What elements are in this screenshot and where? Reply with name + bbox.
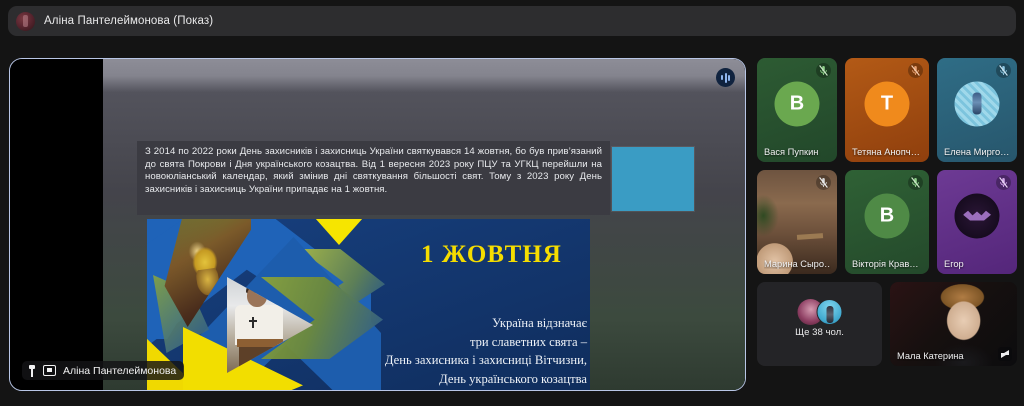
participant-name: Вася Пупкин	[764, 147, 831, 157]
avatar	[955, 81, 1000, 126]
mic-muted-icon	[908, 63, 923, 78]
mic-muted-icon	[908, 175, 923, 190]
slide-body-line: та Покрови Пресвятої Богородиці.	[297, 388, 587, 391]
slide-caption-textbox: З 2014 по 2022 роки День захисників і за…	[137, 141, 610, 215]
slide-body-line: три славетних свята –	[297, 333, 587, 352]
expand-icon[interactable]	[998, 347, 1012, 361]
presenter-name-label: Аліна Пантелеймонова (Показ)	[44, 15, 213, 27]
slide-body-text: Україна відзначаєтри славетних свята –Де…	[297, 314, 587, 391]
self-video-tile[interactable]: Мала Катерина	[890, 282, 1017, 366]
participant-tile-viktoria[interactable]: В Вікторія Крав…	[845, 170, 929, 274]
shared-screen-content: З 2014 по 2022 роки День захисників і за…	[10, 59, 745, 390]
audio-waveform-icon	[716, 68, 735, 87]
screen-share-icon	[43, 365, 56, 376]
mic-muted-icon	[816, 63, 831, 78]
mic-muted-icon	[996, 175, 1011, 190]
participant-name: Марина Сыро…	[764, 259, 831, 269]
avatar: В	[775, 81, 820, 126]
avatar	[955, 193, 1000, 238]
document-placeholder-block	[612, 147, 694, 211]
mic-muted-icon	[816, 175, 831, 190]
more-participants-tile[interactable]: Ще 38 чол.	[757, 282, 882, 366]
avatar: Т	[865, 81, 910, 126]
mic-muted-icon	[996, 63, 1011, 78]
participant-tile-vasya-pupkin[interactable]: В Вася Пупкин	[757, 58, 837, 162]
participant-tile-egor[interactable]: Егор	[937, 170, 1017, 274]
participant-tile-elena[interactable]: Елена Мирго…	[937, 58, 1017, 162]
more-participants-label: Ще 38 чол.	[757, 327, 882, 338]
slide-title: 1 ЖОВТНЯ	[421, 241, 562, 269]
pin-icon[interactable]	[28, 365, 36, 377]
self-name-label: Мала Катерина	[897, 351, 1011, 361]
participant-name: Елена Мирго…	[944, 147, 1011, 157]
avatar: В	[865, 193, 910, 238]
participant-tile-grid: В Вася Пупкин Т Тетяна Анопч… Елена Мирг…	[757, 58, 1017, 404]
participant-name: Вікторія Крав…	[852, 259, 923, 269]
slide-body-line: День українського козацтва	[297, 370, 587, 389]
participant-tile-tetyana[interactable]: Т Тетяна Анопч…	[845, 58, 929, 162]
slide-body-line: День захисника і захисниці Вітчизни,	[297, 351, 587, 370]
avatar	[816, 299, 842, 325]
shared-screen-stage[interactable]: З 2014 по 2022 роки День захисників і за…	[9, 58, 746, 391]
stage-presenter-chip[interactable]: Аліна Пантелеймонова	[22, 361, 184, 380]
cossack-cross	[252, 317, 254, 328]
participant-name: Тетяна Анопч…	[852, 147, 923, 157]
presenter-avatar	[16, 12, 35, 31]
stage-presenter-name: Аліна Пантелеймонова	[63, 365, 176, 377]
presenter-topbar[interactable]: Аліна Пантелеймонова (Показ)	[8, 6, 1016, 36]
video-conference-window: Аліна Пантелеймонова (Показ) З 2014 по 2…	[0, 0, 1024, 406]
slide-body-line: Україна відзначає	[297, 314, 587, 333]
presentation-slide: 1 ЖОВТНЯ Україна відзначаєтри славетних …	[147, 219, 590, 391]
participant-name: Егор	[944, 259, 1011, 269]
participant-tile-marina[interactable]: Марина Сыро…	[757, 170, 837, 274]
slide-caption-text: З 2014 по 2022 роки День захисників і за…	[145, 146, 602, 196]
more-participants-avatars	[797, 299, 842, 325]
